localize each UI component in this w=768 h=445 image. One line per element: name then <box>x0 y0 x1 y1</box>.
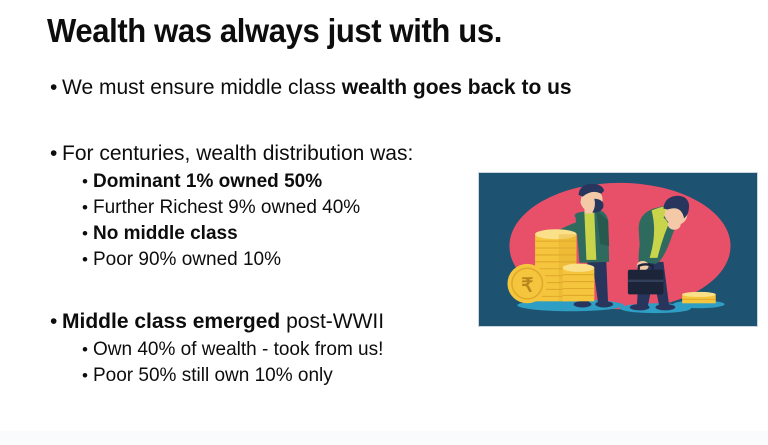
list-item: • Middle class emerged post-WWII <box>0 308 470 336</box>
bullet-dot-icon: • <box>82 169 88 195</box>
history-sub-bullet-list: • Dominant 1% owned 50% • Further Riches… <box>0 169 470 273</box>
bullet-dot-icon: • <box>82 363 88 389</box>
briefcase-icon <box>628 270 664 295</box>
history-sub-text-4: Poor 90% owned 10% <box>93 249 281 270</box>
list-item: • Poor 90% owned 10% <box>0 247 470 273</box>
list-item: • No middle class <box>0 221 470 247</box>
briefcase-seam <box>628 280 664 282</box>
poor-man-hand-at-face <box>668 219 681 230</box>
rich-man-shirt <box>584 212 596 259</box>
bullet-dot-icon: • <box>50 308 57 336</box>
modern-heading-plain: post-WWII <box>280 310 384 333</box>
bullet-dot-icon: • <box>50 140 57 168</box>
coin-stack-tiny <box>682 292 716 303</box>
modern-sub-text-1: Own 40% of wealth - took from us! <box>93 339 383 360</box>
rich-man-shoe-left <box>574 301 592 307</box>
poor-man-shoe-right <box>656 304 676 310</box>
modern-bullet-block: • Middle class emerged post-WWII • Own 4… <box>0 308 470 389</box>
list-item: • Poor 50% still own 10% only <box>0 363 470 389</box>
rupee-coin: ₹ <box>507 264 546 303</box>
coin-stack-short-body <box>563 268 595 302</box>
history-sub-text-3: No middle class <box>93 223 238 244</box>
history-sub-text-2: Further Richest 9% owned 40% <box>93 197 360 218</box>
rupee-symbol-icon: ₹ <box>521 275 533 296</box>
history-heading-text: For centuries, wealth distribution was: <box>62 142 413 165</box>
wealth-inequality-illustration: ₹ <box>478 172 758 327</box>
intro-bullet-block: • We must ensure middle class wealth goe… <box>0 74 470 102</box>
intro-text-plain: We must ensure middle class <box>62 76 342 99</box>
list-item: • Dominant 1% owned 50% <box>0 169 470 195</box>
coin-stack-short <box>563 264 595 302</box>
bullet-dot-icon: • <box>50 74 57 102</box>
modern-heading-list: • Middle class emerged post-WWII <box>0 308 470 336</box>
slide-canvas: Wealth was always just with us. • We mus… <box>0 0 768 445</box>
intro-text-bold: wealth goes back to us <box>342 76 572 99</box>
illustration-svg: ₹ <box>479 173 757 326</box>
list-item: • For centuries, wealth distribution was… <box>0 140 470 168</box>
rich-man-shoe-right <box>595 301 613 307</box>
bullet-dot-icon: • <box>82 221 88 247</box>
poor-man-shoe-left <box>630 304 650 310</box>
bullet-dot-icon: • <box>82 337 88 363</box>
coin-stack-short-top <box>563 264 595 272</box>
bottom-band <box>0 431 768 445</box>
modern-heading-bold: Middle class emerged <box>62 310 280 333</box>
history-sub-text-1: Dominant 1% owned 50% <box>93 171 322 192</box>
coin-stack-tiny-top <box>682 292 716 297</box>
modern-sub-bullet-list: • Own 40% of wealth - took from us! • Po… <box>0 337 470 389</box>
list-item: • Further Richest 9% owned 40% <box>0 195 470 221</box>
intro-bullet-list: • We must ensure middle class wealth goe… <box>0 74 470 102</box>
bullet-dot-icon: • <box>82 195 88 221</box>
modern-sub-text-2: Poor 50% still own 10% only <box>93 365 333 386</box>
history-bullet-block: • For centuries, wealth distribution was… <box>0 140 470 273</box>
list-item: • We must ensure middle class wealth goe… <box>0 74 470 102</box>
history-heading-list: • For centuries, wealth distribution was… <box>0 140 470 168</box>
page-title: Wealth was always just with us. <box>47 12 502 50</box>
list-item: • Own 40% of wealth - took from us! <box>0 337 470 363</box>
bullet-dot-icon: • <box>82 247 88 273</box>
